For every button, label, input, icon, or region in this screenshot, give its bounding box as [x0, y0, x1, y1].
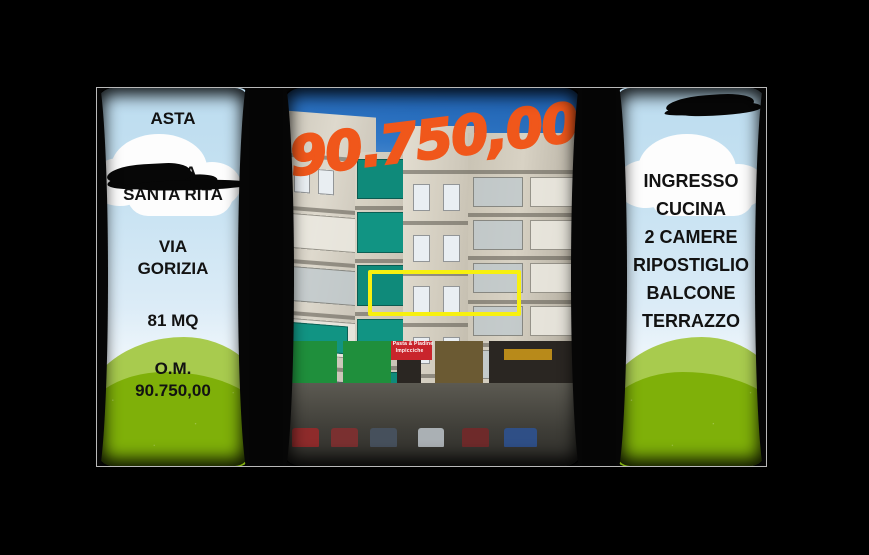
auction-text-block: ASTAZONASANTA RITAVIAGORIZIA81 MQO.M.90.… [97, 88, 249, 466]
auction-text-line-3: VIA [97, 238, 249, 256]
shop-front [435, 341, 483, 383]
rooms-text-line-5: TERRAZZO [616, 312, 766, 331]
property-highlight-box [368, 270, 521, 315]
shop-front [343, 341, 391, 383]
shop-front [489, 341, 576, 383]
rooms-text-line-2: 2 CAMERE [616, 228, 766, 247]
slideshow-stage: ASTAZONASANTA RITAVIAGORIZIA81 MQO.M.90.… [0, 0, 869, 555]
auction-text-line-5: 81 MQ [97, 312, 249, 330]
rooms-text-block: INGRESSOCUCINA2 CAMERERIPOSTIGLIOBALCONE… [616, 88, 766, 466]
rooms-text-line-4: BALCONE [616, 284, 766, 303]
shop-sign-banner: Pasta & Piadine Impicciche [391, 341, 433, 360]
ground-floor [283, 383, 582, 466]
parked-car [418, 428, 445, 447]
parked-car [370, 428, 397, 447]
auction-info-card[interactable]: ASTAZONASANTA RITAVIAGORIZIA81 MQO.M.90.… [97, 88, 249, 466]
auction-text-line-0: ASTA [97, 110, 249, 128]
auction-text-line-4: GORIZIA [97, 260, 249, 278]
parked-car [462, 428, 489, 447]
auction-text-line-6: O.M. [97, 360, 249, 378]
shop-sign-line1: Pasta & Piadine [393, 341, 434, 347]
parked-car [331, 428, 358, 447]
slideshow-viewport: ASTAZONASANTA RITAVIAGORIZIA81 MQO.M.90.… [97, 88, 766, 466]
shop-front [289, 341, 337, 383]
rooms-text-line-3: RIPOSTIGLIO [616, 256, 766, 275]
property-photo-card[interactable]: Pasta & Piadine Impicciche 90.750,00 [283, 88, 582, 466]
parked-car [292, 428, 319, 447]
parked-car [504, 428, 537, 447]
rooms-info-card[interactable]: INGRESSOCUCINA2 CAMERERIPOSTIGLIOBALCONE… [616, 88, 766, 466]
shop-sign-line2: Impicciche [396, 348, 424, 354]
shop-sign-banner [504, 349, 552, 360]
rooms-text-line-0: INGRESSO [616, 172, 766, 191]
rooms-text-line-1: CUCINA [616, 200, 766, 219]
auction-text-line-7: 90.750,00 [97, 382, 249, 400]
